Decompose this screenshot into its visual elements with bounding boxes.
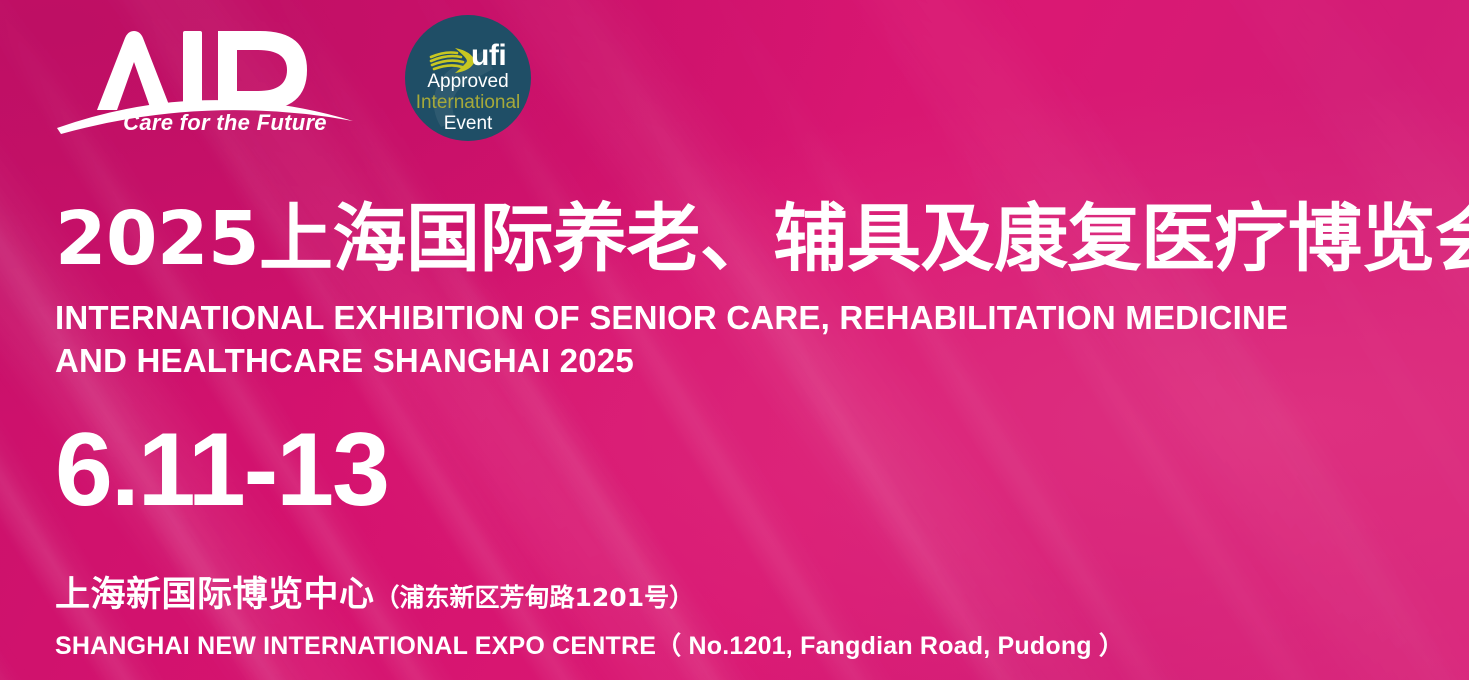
banner-copy: 2025上海国际养老、辅具及康复医疗博览会 INTERNATIONAL EXHI…: [55, 196, 1425, 662]
venue-chinese: 上海新国际博览中心（浦东新区芳甸路1201号）: [55, 566, 1425, 617]
aid-logo: Care for the Future: [55, 18, 355, 138]
venue-chinese-name: 上海新国际博览中心: [55, 575, 375, 615]
venue-english: SHANGHAI NEW INTERNATIONAL EXPO CENTRE（ …: [55, 626, 1425, 662]
venue-english-name: SHANGHAI NEW INTERNATIONAL EXPO CENTRE: [55, 632, 656, 660]
venue-chinese-address: （浦东新区芳甸路1201号）: [375, 583, 695, 612]
event-title-english-line1: INTERNATIONAL EXHIBITION OF SENIOR CARE,…: [55, 296, 1425, 339]
venue-english-address: （ No.1201, Fangdian Road, Pudong ）: [656, 632, 1124, 660]
event-banner: Care for the Future ufi Approved Interna…: [0, 0, 1469, 680]
ufi-event-text: Event: [405, 113, 531, 134]
event-title-english: INTERNATIONAL EXHIBITION OF SENIOR CARE,…: [55, 296, 1425, 382]
event-dates: 6.11-13: [55, 418, 1425, 522]
event-title-english-line2: AND HEALTHCARE SHANGHAI 2025: [55, 339, 1425, 382]
event-title-chinese: 2025上海国际养老、辅具及康复医疗博览会: [55, 196, 1425, 282]
aid-logo-tagline: Care for the Future: [100, 110, 350, 136]
ufi-approved-text: Approved: [405, 71, 531, 92]
ufi-international-text: International: [405, 92, 531, 113]
ufi-brand-text: ufi: [471, 41, 506, 71]
ufi-approved-badge: ufi Approved International Event: [405, 15, 531, 141]
